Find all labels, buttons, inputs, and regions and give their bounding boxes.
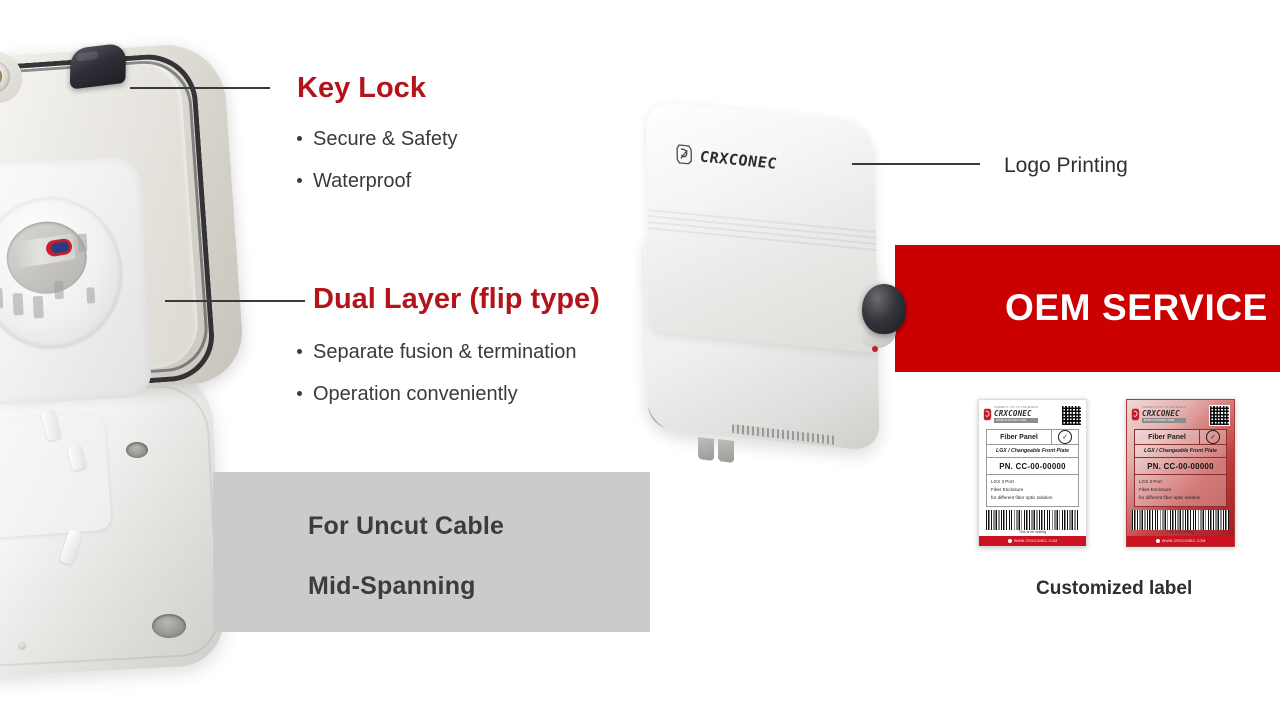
slide-canvas: For Uncut Cable Mid-Spanning Key Lock Se… xyxy=(0,0,1280,720)
label-footer: WWW.CRXCONEC.COM xyxy=(1127,536,1234,546)
knot-logo-icon xyxy=(1131,408,1140,421)
label-row-partnumber: PN. CC-00-00000 xyxy=(987,458,1078,475)
label-title: Fiber Panel xyxy=(1135,430,1199,444)
label-brand-text: CONNECT YOU TO THE WORLD CRXCONEC www.cr… xyxy=(1142,407,1186,422)
lock-knob-indicator xyxy=(872,346,878,352)
label-brand: CONNECT YOU TO THE WORLD CRXCONEC www.cr… xyxy=(1131,407,1186,422)
label-info-table: Fiber Panel ✓ LGX / Changeable Front Pla… xyxy=(986,429,1079,507)
tray-slot xyxy=(86,287,95,303)
bullet-dot-icon xyxy=(297,391,302,396)
callout-bullet-secure-safety: Secure & Safety xyxy=(297,128,458,151)
bullet-label: Separate fusion & termination xyxy=(313,341,577,364)
leader-line-logo-printing xyxy=(852,163,980,165)
label-info-table: Fiber Panel ✓ LGX / Changeable Front Pla… xyxy=(1134,429,1227,507)
label-header: CONNECT YOU TO THE WORLD CRXCONEC www.cr… xyxy=(1131,404,1230,426)
label-row-description: LGX 3 Port Fiber Enclosure for different… xyxy=(987,475,1078,506)
leader-line-dual-layer xyxy=(165,300,305,302)
product-label-white: CONNECT YOU TO THE WORLD CRXCONEC www.cr… xyxy=(978,399,1087,547)
check-mark-icon: ✓ xyxy=(1058,430,1072,444)
bullet-dot-icon xyxy=(297,136,302,141)
logo-printing-label: Logo Printing xyxy=(1004,154,1128,178)
product-label-red: CONNECT YOU TO THE WORLD CRXCONEC www.cr… xyxy=(1126,399,1235,547)
bullet-label: Waterproof xyxy=(313,170,411,193)
callout-title-dual-layer: Dual Layer (flip type) xyxy=(313,283,600,316)
bullet-label: Secure & Safety xyxy=(313,128,458,151)
label-row-title: Fiber Panel ✓ xyxy=(1135,430,1226,445)
callout-bullet-operation-conveniently: Operation conveniently xyxy=(297,383,518,406)
customized-label-caption: Customized label xyxy=(1036,578,1192,600)
label-brand-url: www.crxconec.com xyxy=(994,418,1038,422)
label-description-line: for different fiber optic solution xyxy=(991,494,1074,502)
label-row-subtitle: LGX / Changeable Front Plate xyxy=(1135,445,1226,458)
knot-logo-icon xyxy=(676,143,693,166)
qr-code-icon xyxy=(1061,405,1082,426)
label-cert-cell: ✓ xyxy=(1199,430,1226,444)
tray-slot xyxy=(33,296,44,318)
label-cert-cell: ✓ xyxy=(1051,430,1078,444)
label-part-number: PN. CC-00-00000 xyxy=(987,458,1078,474)
label-row-description: LGX 3 Port Fiber Enclosure for different… xyxy=(1135,475,1226,506)
leader-line-key-lock xyxy=(130,87,270,89)
closed-enclosure-product-image: CRXCONEC xyxy=(640,100,980,490)
label-description-line: for different fiber optic solution xyxy=(1139,494,1222,502)
enclosure-foot xyxy=(698,437,714,461)
label-brand-text: CONNECT YOU TO THE WORLD CRXCONEC www.cr… xyxy=(994,407,1038,422)
callout-title-key-lock: Key Lock xyxy=(297,72,426,105)
label-subtitle: LGX / Changeable Front Plate xyxy=(1135,445,1226,457)
globe-icon xyxy=(1008,539,1013,544)
label-description-line: Fiber Enclosure xyxy=(1139,486,1222,494)
label-footer-url: WWW.CRXCONEC.COM xyxy=(1162,539,1205,543)
barcode-note: This is for testing xyxy=(986,530,1079,534)
label-header: CONNECT YOU TO THE WORLD CRXCONEC www.cr… xyxy=(983,404,1082,426)
uncut-cable-line-2: Mid-Spanning xyxy=(308,572,476,601)
enclosure-knob-cap xyxy=(70,42,126,89)
base-boss xyxy=(18,642,26,650)
knot-logo-icon xyxy=(983,408,992,421)
splice-tray xyxy=(0,157,152,408)
label-description-line: LGX 3 Port xyxy=(991,478,1074,486)
bullet-label: Operation conveniently xyxy=(313,383,518,406)
label-footer-url: WWW.CRXCONEC.COM xyxy=(1014,539,1057,543)
barcode-note: This is for testing xyxy=(1134,530,1227,534)
bullet-dot-icon xyxy=(297,178,302,183)
label-footer: WWW.CRXCONEC.COM xyxy=(979,536,1086,546)
uncut-cable-banner: For Uncut Cable Mid-Spanning xyxy=(213,472,650,632)
uncut-cable-line-1: For Uncut Cable xyxy=(308,512,504,541)
label-brand-name: CRXCONEC xyxy=(994,410,1038,418)
label-description-line: LGX 3 Port xyxy=(1139,478,1222,486)
lock-knob xyxy=(862,284,906,334)
globe-icon xyxy=(1156,539,1161,544)
label-brand-name: CRXCONEC xyxy=(1142,410,1186,418)
base-port-hole xyxy=(126,442,148,458)
label-row-partnumber: PN. CC-00-00000 xyxy=(1135,458,1226,475)
label-brand-url: www.crxconec.com xyxy=(1142,418,1186,422)
barcode xyxy=(986,510,1079,530)
label-title: Fiber Panel xyxy=(987,430,1051,444)
qr-code-icon xyxy=(1209,405,1230,426)
enclosure-lid xyxy=(646,101,878,353)
label-row-title: Fiber Panel ✓ xyxy=(987,430,1078,445)
label-description-line: Fiber Enclosure xyxy=(991,486,1074,494)
label-description: LGX 3 Port Fiber Enclosure for different… xyxy=(1135,475,1226,506)
label-brand: CONNECT YOU TO THE WORLD CRXCONEC www.cr… xyxy=(983,407,1038,422)
barcode xyxy=(1132,510,1229,530)
bullet-dot-icon xyxy=(297,349,302,354)
oem-service-text: OEM SERVICE xyxy=(1005,287,1268,329)
label-description: LGX 3 Port Fiber Enclosure for different… xyxy=(987,475,1078,506)
base-port-hole xyxy=(152,614,186,638)
callout-bullet-waterproof: Waterproof xyxy=(297,170,411,193)
label-part-number: PN. CC-00-00000 xyxy=(1135,458,1226,474)
label-row-subtitle: LGX / Changeable Front Plate xyxy=(987,445,1078,458)
label-subtitle: LGX / Changeable Front Plate xyxy=(987,445,1078,457)
callout-bullet-separate-fusion: Separate fusion & termination xyxy=(297,341,577,364)
check-mark-icon: ✓ xyxy=(1206,430,1220,444)
enclosure-foot xyxy=(718,439,734,463)
tray-slot xyxy=(78,234,88,252)
tray-slot xyxy=(54,281,64,299)
tray-slot xyxy=(13,293,24,315)
